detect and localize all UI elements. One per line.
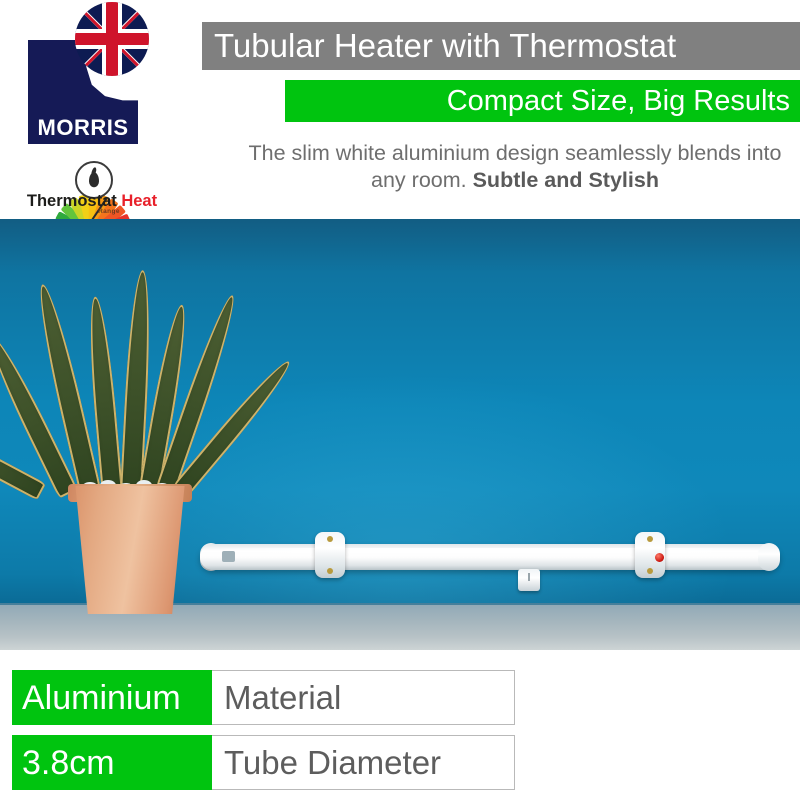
- product-title-bar: Tubular Heater with Thermostat: [202, 22, 800, 70]
- snake-plant: [22, 254, 222, 614]
- product-subtitle-bar: Compact Size, Big Results: [285, 80, 800, 122]
- mounting-bracket: [315, 532, 345, 578]
- thermostat-heat-range-badge: Thermostat Heat Range: [12, 148, 172, 214]
- brand-block: MORRIS: [0, 0, 196, 219]
- union-jack-icon: [75, 2, 149, 76]
- bracket-screw: [647, 536, 653, 542]
- spec-list: Aluminium Material 3.8cm Tube Diameter: [0, 650, 800, 800]
- red-power-led-icon: [655, 553, 664, 562]
- morris-logo-text: MORRIS: [28, 116, 138, 140]
- heat-range-gauge-icon: [46, 148, 138, 194]
- bracket-screw: [327, 568, 333, 574]
- page-title: Tubular Heater with Thermostat: [202, 29, 676, 63]
- flag-cross-red-vertical: [106, 2, 118, 76]
- product-photo: [0, 219, 800, 650]
- spec-row-material: Aluminium Material: [12, 670, 515, 725]
- product-description: The slim white aluminium design seamless…: [230, 140, 800, 194]
- terracotta-pot: [68, 486, 192, 614]
- flame-icon: [89, 172, 99, 187]
- header-section: MORRIS: [0, 0, 800, 219]
- spec-row-tube-diameter: 3.8cm Tube Diameter: [12, 735, 515, 790]
- product-infographic: MORRIS: [0, 0, 800, 800]
- spec-label: Material: [212, 670, 515, 725]
- heater-highlight: [214, 548, 764, 553]
- thermostat-knob[interactable]: [518, 569, 540, 591]
- bracket-screw: [647, 568, 653, 574]
- spec-value: Aluminium: [12, 670, 212, 725]
- bracket-screw: [327, 536, 333, 542]
- badge-subtitle: Range: [12, 208, 172, 215]
- page-subtitle: Compact Size, Big Results: [447, 86, 800, 116]
- tubular-heater: [200, 532, 780, 578]
- spec-value: 3.8cm: [12, 735, 212, 790]
- badge-subtitle-text: Range: [98, 208, 120, 215]
- heater-end-cap-right: [758, 543, 780, 571]
- heater-switch-icon: [222, 551, 235, 562]
- description-emphasis: Subtle and Stylish: [473, 168, 659, 192]
- spec-label: Tube Diameter: [212, 735, 515, 790]
